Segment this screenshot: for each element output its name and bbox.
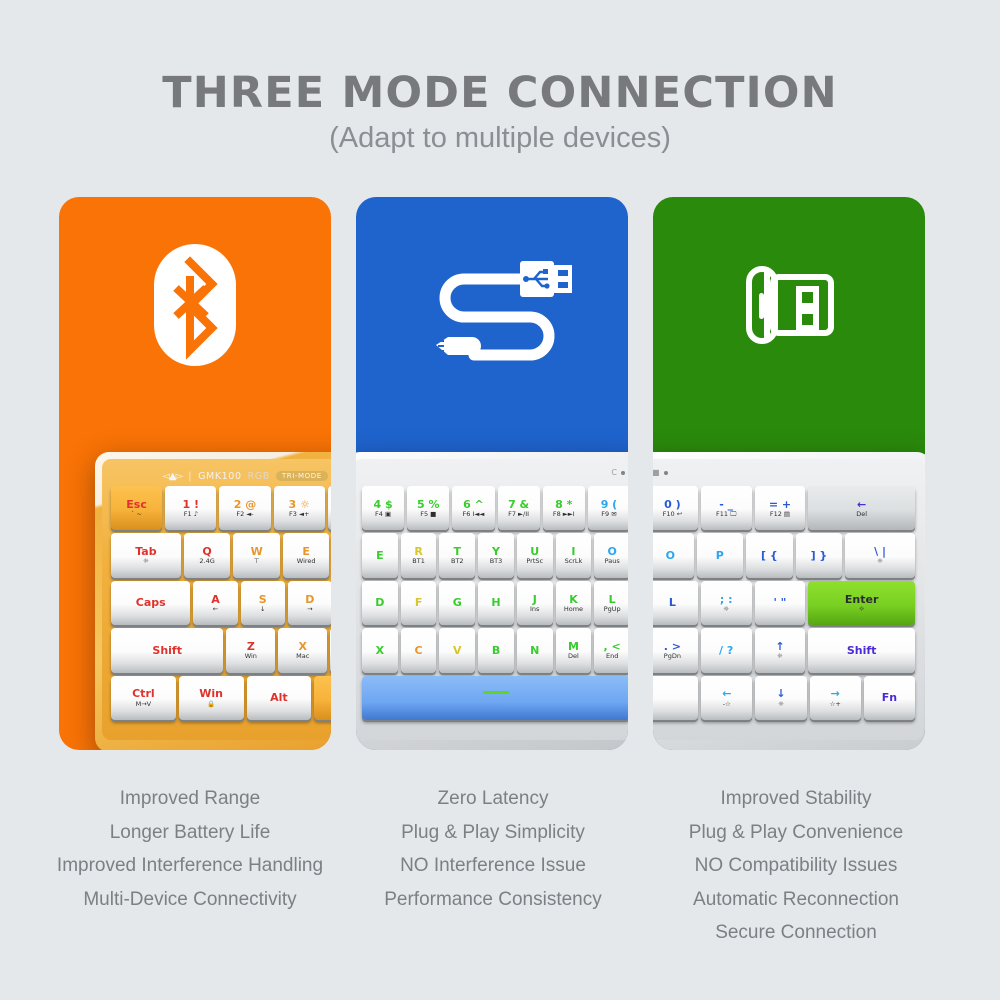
keycap[interactable]: 4 $F4 ▣ (328, 486, 331, 530)
brand-logo-icon: ◅▲▻ (162, 471, 182, 482)
keycap-primary-legend: U (530, 546, 539, 557)
keycap-primary-legend: ↑ (775, 641, 784, 652)
feature-item: Multi-Device Connectivity (25, 883, 355, 917)
keycap-primary-legend: Win (199, 688, 223, 699)
keycap-primary-legend: = + (769, 499, 791, 510)
feature-item: Zero Latency (328, 782, 658, 816)
keycap[interactable]: YBT3 (478, 533, 514, 577)
keycap-primary-legend: - _ (719, 499, 733, 510)
key-row: 4 $F4 ▣5 %F5 ■6 ^F6 I◄◄7 &F7 ►/II8 *F8 ►… (362, 486, 628, 530)
keycap-primary-legend: ] } (811, 550, 828, 561)
feature-item: Improved Stability (631, 782, 961, 816)
keycap-secondary-legend: PgUp (604, 606, 621, 613)
keycap[interactable]: 1 !F1 ♪ (165, 486, 216, 530)
keycap-secondary-legend: F3 ◄+ (289, 511, 309, 518)
feature-item: Improved Range (25, 782, 355, 816)
keycap[interactable]: P (697, 533, 744, 577)
keycap-primary-legend: ← (722, 688, 731, 699)
keycap-secondary-legend: PrtSc (526, 558, 543, 565)
key-row: XCVBNMDel, <End (362, 628, 628, 672)
keycap-secondary-legend: F11 🖵 (716, 511, 736, 518)
keycap[interactable]: L (653, 581, 698, 625)
keycap[interactable] (314, 676, 331, 720)
feature-list-bluetooth: Improved RangeLonger Battery LifeImprove… (25, 782, 355, 916)
keycap[interactable]: 9 (F9 ✉ (588, 486, 628, 530)
keycap-primary-legend: 1 ! (183, 499, 200, 510)
keycap-primary-legend: G (453, 597, 462, 608)
keycap[interactable]: 3 ☼F3 ◄+ (274, 486, 325, 530)
keycap[interactable]: KHome (556, 581, 592, 625)
panel-wireless[interactable]: 2.4Ghz Wireless ■ 0 )F10 ↩- _F11 🖵= +F12… (653, 197, 925, 750)
keycap-primary-legend: M (568, 641, 579, 652)
keycap-primary-legend: \ | (874, 546, 886, 557)
keycap-secondary-legend: ` ~ (131, 511, 142, 518)
usb-dongle-icon (653, 235, 925, 375)
feature-item: Performance Consistency (328, 883, 658, 917)
keycap-primary-legend: Enter (845, 594, 879, 605)
keycap-primary-legend: A (211, 594, 220, 605)
keycap[interactable]: UPrtSc (517, 533, 553, 577)
key-row: . >PgDn/ ?↑☼Shift (653, 628, 915, 672)
keycap[interactable]: / ? (701, 628, 752, 672)
keycap-secondary-legend: F9 ✉ (601, 511, 616, 518)
keycap-primary-legend: H (491, 597, 500, 608)
keycap-secondary-legend: Del (856, 511, 867, 518)
keycap-secondary-legend: ☼ (778, 701, 784, 708)
keycap[interactable]: Tab☼ (111, 533, 181, 577)
keycap[interactable]: = +F12 ▤ (755, 486, 806, 530)
keycap-primary-legend: 4 $ (374, 499, 393, 510)
keycap[interactable]: D→ (288, 581, 331, 625)
keycap[interactable]: Q2.4G (184, 533, 231, 577)
keyboard-image-wired: C 4 $F4 ▣5 %F5 ■6 ^F6 I◄◄7 &F7 ►/II8 *F8… (356, 452, 628, 750)
brand-badge: TRI-MODE (276, 471, 328, 481)
keycap-primary-legend: ↓ (776, 688, 785, 699)
keycap[interactable]: ←Del (808, 486, 915, 530)
keycap-primary-legend: B (492, 645, 500, 656)
infographic-root: THREE MODE CONNECTION (Adapt to multiple… (0, 0, 1000, 1000)
keycap-secondary-legend: F1 ♪ (184, 511, 198, 518)
keycap[interactable]: \ |☼ (845, 533, 915, 577)
key-row: L; :☼' "Enter☼ (653, 581, 915, 625)
keycap-secondary-legend: F8 ►►I (553, 511, 575, 518)
keycap-primary-legend: → (831, 688, 840, 699)
keycap-secondary-legend: ☼ (877, 558, 883, 565)
keycap-primary-legend: [ { (761, 550, 778, 561)
keycap-primary-legend: K (569, 594, 578, 605)
keycap[interactable]: Enter☼ (808, 581, 915, 625)
keycap-primary-legend: D (375, 597, 384, 608)
keycap[interactable]: Shift (111, 628, 223, 672)
keycap[interactable]: ←-☆ (701, 676, 752, 720)
keycap-primary-legend: Fn (882, 692, 897, 703)
keycap[interactable]: Shift (808, 628, 915, 672)
bluetooth-icon (59, 235, 331, 375)
feature-item: Automatic Reconnection (631, 883, 961, 917)
key-row: CapsA←S↓D→F (111, 581, 331, 625)
keycap[interactable]: IScrLk (556, 533, 592, 577)
keycap-primary-legend: 2 @ (234, 499, 256, 510)
key-row: ←-☆↓☼→☆+Fn (653, 676, 915, 720)
keycap-primary-legend: O (607, 546, 616, 557)
keycap-primary-legend: J (533, 594, 537, 605)
keycap-primary-legend: F (415, 597, 423, 608)
keycap[interactable]: ZWin (226, 628, 275, 672)
keycap[interactable]: N (517, 628, 553, 672)
keycap-primary-legend: 0 ) (664, 499, 681, 510)
keycap-primary-legend: ; : (720, 594, 733, 605)
keycap-secondary-legend: ScrLk (565, 558, 583, 565)
keycap[interactable]: ' " (755, 581, 806, 625)
usb-cable-icon (356, 235, 628, 375)
keycap-secondary-legend: Paus (605, 558, 620, 565)
keycap-primary-legend: Caps (136, 597, 166, 608)
key-row: ERBT1TBT2YBT3UPrtScIScrLkOPaus (362, 533, 628, 577)
keycap-secondary-legend: 🔒 (207, 701, 215, 708)
key-rows-wireless: 0 )F10 ↩- _F11 🖵= +F12 ▤←DelOP[ {] }\ |☼… (653, 486, 915, 720)
keycap-secondary-legend: F5 ■ (420, 511, 436, 518)
keyboard-brand-strip: ◅▲▻ | GMK100 RGB TRI-MODE (102, 468, 331, 484)
keycap[interactable]: [ { (746, 533, 793, 577)
panel-bluetooth[interactable]: Bluetooth 5.0 ◅▲▻ | GMK100 RGB TRI-MODE … (59, 197, 331, 750)
keycap-primary-legend: ' " (773, 597, 786, 608)
keycap[interactable]: X (362, 628, 398, 672)
keycap-secondary-legend: Del (568, 653, 579, 660)
keycap[interactable]: Esc` ~ (111, 486, 162, 530)
keyboard-image-wireless: ■ 0 )F10 ↩- _F11 🖵= +F12 ▤←DelOP[ {] }\ … (653, 452, 925, 750)
keycap[interactable]: 0 )F10 ↩ (653, 486, 698, 530)
keycap-secondary-legend: → (307, 606, 312, 613)
keycap-secondary-legend: F7 ►/II (508, 511, 529, 518)
keycap-primary-legend: / ? (719, 645, 733, 656)
keycap-primary-legend: 8 * (555, 499, 572, 510)
feature-item: Secure Connection (631, 916, 961, 950)
usb-c-port-mark: C (611, 468, 625, 477)
keycap[interactable]: C (330, 628, 331, 672)
keycap-primary-legend: S (259, 594, 267, 605)
keycap[interactable]: CtrlM→V (111, 676, 176, 720)
feature-list-wireless: Improved StabilityPlug & Play Convenienc… (631, 782, 961, 950)
panel-wired[interactable]: Wired (USB Type-C) C 4 $F4 ▣5 %F5 ■6 ^F6… (356, 197, 628, 750)
feature-item: NO Compatibility Issues (631, 849, 961, 883)
brand-rgb: RGB (248, 471, 270, 482)
keycap[interactable]: 7 &F7 ►/II (498, 486, 540, 530)
keycap[interactable]: RBT1 (401, 533, 437, 577)
key-row: CtrlM→VWin🔒Alt (111, 676, 331, 720)
keycap[interactable]: S↓ (241, 581, 285, 625)
keycap[interactable]: O (653, 533, 694, 577)
keycap[interactable]: A← (193, 581, 237, 625)
keycap-primary-legend: L (669, 597, 676, 608)
spacebar-accent (483, 691, 509, 694)
keycap[interactable]: →☆+ (810, 676, 861, 720)
feature-item: Longer Battery Life (25, 816, 355, 850)
keycap-secondary-legend: ☼ (859, 606, 865, 613)
keycap[interactable]: 6 ^F6 I◄◄ (452, 486, 494, 530)
keycap-primary-legend: Shift (152, 645, 182, 656)
keycap-primary-legend: T (454, 546, 462, 557)
keycap-primary-legend: 6 ^ (463, 499, 484, 510)
keycap[interactable]: LPgUp (594, 581, 628, 625)
keycap-secondary-legend: Wired (297, 558, 316, 565)
keycap-primary-legend: P (716, 550, 724, 561)
keycap-primary-legend: 3 ☼ (289, 499, 310, 510)
keycap-secondary-legend: F10 ↩ (663, 511, 683, 518)
key-row: DFGHJInsKHomeLPgUp (362, 581, 628, 625)
keycap[interactable]: E (362, 533, 398, 577)
page-subtitle: (Adapt to multiple devices) (0, 122, 1000, 155)
keycap[interactable] (653, 676, 698, 720)
keycap-primary-legend: Esc (126, 499, 147, 510)
keycap-primary-legend: I (571, 546, 575, 557)
keycap-secondary-legend: 2.4G (199, 558, 214, 565)
keycap-primary-legend: D (305, 594, 314, 605)
keycap-secondary-legend: -☆ (723, 701, 731, 708)
keycap-primary-legend: W (251, 546, 263, 557)
keycap[interactable]: , <End (594, 628, 628, 672)
keycap[interactable]: EWired (283, 533, 330, 577)
keycap-secondary-legend: ☆+ (830, 701, 841, 708)
key-row: ShiftZWinXMacC (111, 628, 331, 672)
keycap[interactable]: H (478, 581, 514, 625)
keycap-secondary-legend: F12 ▤ (770, 511, 790, 518)
keycap[interactable]: ] } (796, 533, 843, 577)
keycap-primary-legend: Tab (135, 546, 156, 557)
keycap-primary-legend: X (298, 641, 306, 652)
keycap-primary-legend: Q (202, 546, 211, 557)
keycap[interactable]: XMac (278, 628, 327, 672)
keycap[interactable]: G (439, 581, 475, 625)
keycap[interactable]: ; :☼ (701, 581, 752, 625)
keycap-primary-legend: C (415, 645, 423, 656)
keycap[interactable]: ↑☼ (755, 628, 806, 672)
keycap[interactable]: JIns (517, 581, 553, 625)
keycap[interactable]: D (362, 581, 398, 625)
keycap-primary-legend: R (414, 546, 422, 557)
keycap-secondary-legend: ← (213, 606, 218, 613)
keycap[interactable]: V (439, 628, 475, 672)
keycap-primary-legend: 5 % (417, 499, 440, 510)
battery-indicator-icon: ■ (653, 468, 668, 477)
keycap[interactable]: W⊤ (233, 533, 280, 577)
keycap[interactable]: F (401, 581, 437, 625)
keycap-secondary-legend: ⊤ (254, 558, 260, 565)
feature-item: Plug & Play Convenience (631, 816, 961, 850)
keycap-secondary-legend: F4 ▣ (375, 511, 391, 518)
keycap-secondary-legend: BT3 (490, 558, 503, 565)
key-row: Tab☼Q2.4GW⊤EWiredRBT1 (111, 533, 331, 577)
keycap[interactable]: . >PgDn (653, 628, 698, 672)
keycap[interactable]: MDel (556, 628, 592, 672)
feature-item: Plug & Play Simplicity (328, 816, 658, 850)
keycap[interactable]: Caps (111, 581, 190, 625)
keycap-secondary-legend: F2 ◄- (236, 511, 253, 518)
keycap-primary-legend: Y (492, 546, 500, 557)
key-rows-bluetooth: Esc` ~1 !F1 ♪2 @F2 ◄-3 ☼F3 ◄+4 $F4 ▣Tab☼… (111, 486, 331, 720)
keycap-secondary-legend: ☼ (723, 606, 729, 613)
keycap[interactable]: 2 @F2 ◄- (219, 486, 270, 530)
keycap-secondary-legend: ☼ (777, 653, 783, 660)
keycap[interactable]: OPaus (594, 533, 628, 577)
keycap-secondary-legend: Mac (296, 653, 309, 660)
keycap-secondary-legend: BT2 (451, 558, 464, 565)
key-row: 0 )F10 ↩- _F11 🖵= +F12 ▤←Del (653, 486, 915, 530)
keycap-secondary-legend: Ins (530, 606, 539, 613)
keycap[interactable]: C (401, 628, 437, 672)
key-rows-wired: 4 $F4 ▣5 %F5 ■6 ^F6 I◄◄7 &F7 ►/II8 *F8 ►… (362, 486, 628, 720)
keycap-primary-legend: N (530, 645, 539, 656)
keycap-primary-legend: Shift (847, 645, 877, 656)
keycap[interactable]: 8 *F8 ►►I (543, 486, 585, 530)
keycap-primary-legend: Ctrl (132, 688, 155, 699)
keycap-primary-legend: 9 ( (601, 499, 618, 510)
keycap[interactable]: 4 $F4 ▣ (362, 486, 404, 530)
keyboard-image-bluetooth: ◅▲▻ | GMK100 RGB TRI-MODE Esc` ~1 !F1 ♪2… (95, 452, 331, 750)
feature-list-wired: Zero LatencyPlug & Play SimplicityNO Int… (328, 782, 658, 916)
keycap-secondary-legend: ☼ (143, 558, 149, 565)
keycap-secondary-legend: F6 I◄◄ (463, 511, 485, 518)
keycap-primary-legend: E (302, 546, 310, 557)
keycap-primary-legend: X (376, 645, 384, 656)
keycap[interactable]: Fn (864, 676, 915, 720)
keycap-primary-legend: 7 & (508, 499, 529, 510)
key-row: OP[ {] }\ |☼ (653, 533, 915, 577)
keycap-secondary-legend: M→V (136, 701, 152, 708)
keycap[interactable]: Win🔒 (179, 676, 244, 720)
keycap[interactable]: - _F11 🖵 (701, 486, 752, 530)
feature-item: NO Interference Issue (328, 849, 658, 883)
key-row: Esc` ~1 !F1 ♪2 @F2 ◄-3 ☼F3 ◄+4 $F4 ▣ (111, 486, 331, 530)
page-title: THREE MODE CONNECTION (0, 68, 1000, 118)
keycap-primary-legend: V (453, 645, 462, 656)
keycap-secondary-legend: Win (245, 653, 257, 660)
keycap[interactable]: 5 %F5 ■ (407, 486, 449, 530)
keycap[interactable]: TBT2 (439, 533, 475, 577)
key-row (362, 676, 628, 720)
keycap-primary-legend: . > (664, 641, 681, 652)
keycap-secondary-legend: End (606, 653, 618, 660)
keycap-secondary-legend: Home (564, 606, 583, 613)
keycap-primary-legend: L (609, 594, 616, 605)
feature-item: Improved Interference Handling (25, 849, 355, 883)
keycap[interactable]: ↓☼ (755, 676, 806, 720)
keycap[interactable]: Alt (247, 676, 312, 720)
keycap[interactable] (362, 676, 628, 720)
keycap-secondary-legend: PgDn (664, 653, 681, 660)
keycap-primary-legend: Alt (270, 692, 288, 703)
keycap[interactable]: B (478, 628, 514, 672)
brand-model: GMK100 (198, 471, 242, 482)
keycap-primary-legend: , < (604, 641, 621, 652)
keycap-primary-legend: E (376, 550, 384, 561)
keycap-primary-legend: ← (857, 499, 866, 510)
keycap-primary-legend: O (666, 550, 675, 561)
keycap-secondary-legend: BT1 (412, 558, 425, 565)
keycap-primary-legend: Z (247, 641, 255, 652)
keycap-secondary-legend: ↓ (260, 606, 265, 613)
